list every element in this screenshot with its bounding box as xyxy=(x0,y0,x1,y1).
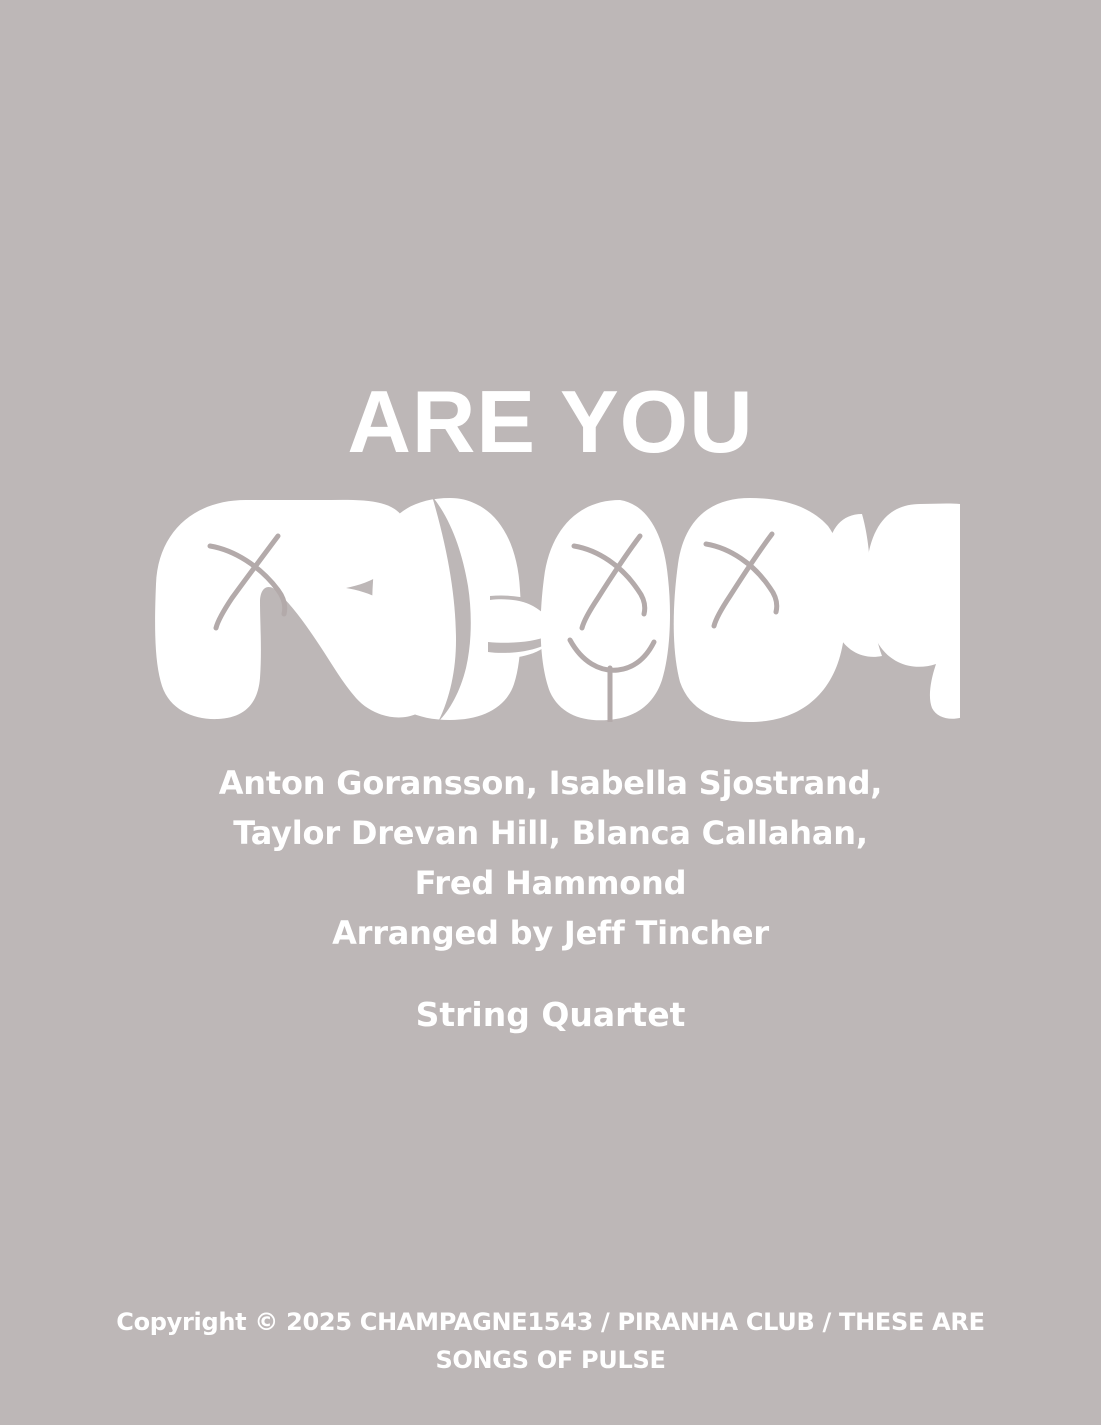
instrumentation-label: String Quartet xyxy=(0,993,1101,1037)
credits-line-3: Fred Hammond xyxy=(0,858,1101,908)
copyright-line-1: Copyright © 2025 CHAMPAGNE1543 / PIRANHA… xyxy=(0,1303,1101,1341)
credits-line-2: Taylor Drevan Hill, Blanca Callahan, xyxy=(0,808,1101,858)
copyright-block: Copyright © 2025 CHAMPAGNE1543 / PIRANHA… xyxy=(0,1303,1101,1379)
bubble-letter-a xyxy=(541,500,670,722)
copyright-line-2: SONGS OF PULSE xyxy=(0,1341,1101,1379)
bubble-letter-d xyxy=(674,498,848,722)
bubble-letter-e xyxy=(372,496,556,722)
ready-bubble-artwork xyxy=(150,492,960,722)
credits-line-1: Anton Goransson, Isabella Sjostrand, xyxy=(0,758,1101,808)
credits-line-4-arranger: Arranged by Jeff Tincher xyxy=(0,908,1101,958)
page-title-line-1: ARE YOU xyxy=(0,378,1101,466)
score-cover-page: ARE YOU xyxy=(0,0,1101,1425)
bubble-letter-y xyxy=(827,504,960,719)
credits-block: Anton Goransson, Isabella Sjostrand, Tay… xyxy=(0,758,1101,958)
